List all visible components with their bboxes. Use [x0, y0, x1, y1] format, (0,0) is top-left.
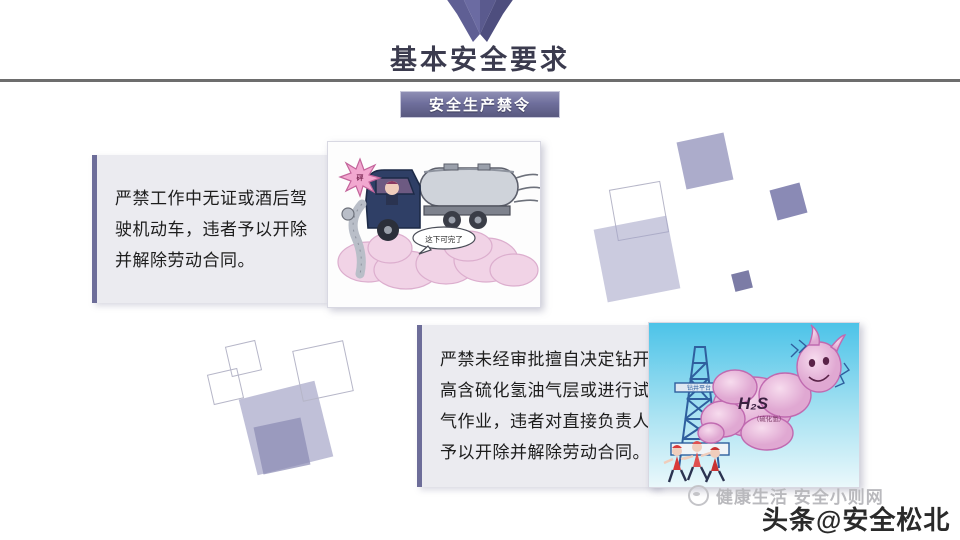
rule-card-h2s: 严禁未经审批擅自决定钻开高含硫化氢油气层或进行试气作业，违者对直接负责人予以开除… — [417, 325, 660, 487]
square-filled-tiny-right — [731, 270, 753, 292]
rule-text-h2s: 严禁未经审批擅自决定钻开高含硫化氢油气层或进行试气作业，违者对直接负责人予以开除… — [422, 344, 660, 468]
slide-root: 基本安全要求 安全生产禁令 严禁工作中无证或酒后驾驶机动车，违者予以开除并解除劳… — [0, 0, 960, 540]
v-ribbon-logo-icon — [443, 0, 517, 42]
page-title: 基本安全要求 — [0, 38, 960, 77]
svg-text:钻井平台: 钻井平台 — [687, 384, 711, 392]
svg-text:砰: 砰 — [357, 174, 364, 182]
watermark-author: 头条@安全松北 — [762, 500, 950, 537]
square-outline-left-big — [292, 340, 354, 402]
square-filled-mid-right — [770, 183, 808, 221]
rule-card-driving: 严禁工作中无证或酒后驾驶机动车，违者予以开除并解除劳动合同。 — [92, 155, 327, 303]
watermark-logo-icon — [688, 485, 709, 506]
header-divider — [0, 79, 960, 82]
sub-banner-label: 安全生产禁令 — [429, 94, 531, 115]
illustration-tanker-truck: 砰 这下可完了 — [327, 141, 541, 308]
square-filled-small-left — [254, 418, 311, 475]
square-filled-mid-left — [594, 216, 681, 303]
svg-text:H₂S: H₂S — [738, 394, 769, 413]
svg-text:（硫化氢）: （硫化氢） — [753, 414, 786, 423]
svg-text:这下可完了: 这下可完了 — [425, 234, 463, 244]
rule-text-driving: 严禁工作中无证或酒后驾驶机动车，违者予以开除并解除劳动合同。 — [97, 183, 327, 276]
illustration-h2s-rig: 钻井平台 H₂S （硫化氢） — [648, 322, 860, 488]
square-filled-top-right — [677, 133, 734, 190]
sub-banner: 安全生产禁令 — [400, 91, 560, 118]
